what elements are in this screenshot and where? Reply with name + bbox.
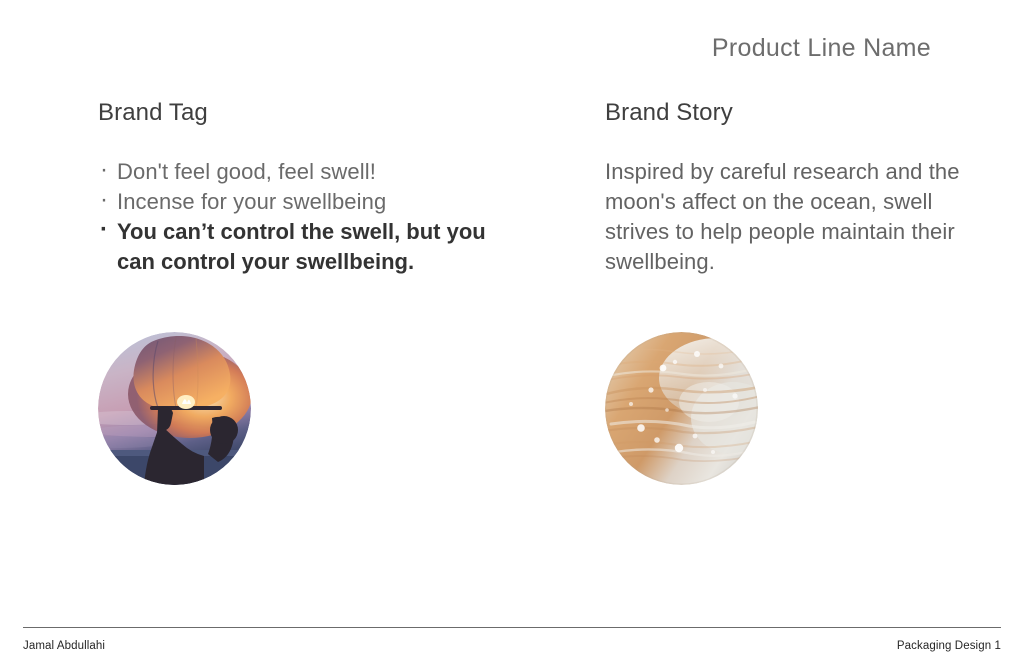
bullet-item-emphasis: You can’t control the swell, but you can… [98,217,518,277]
brand-tag-heading: Brand Tag [98,98,518,128]
brand-tag-bullet-list: Don't feel good, feel swell! Incense for… [98,157,518,277]
bullet-item: Incense for your swellbeing [98,187,518,217]
sea-foam-photo [605,332,758,485]
brand-tag-column: Brand Tag Don't feel good, feel swell! I… [98,98,518,277]
footer-project: Packaging Design 1 [0,638,1001,654]
sky-lantern-photo [98,332,251,485]
brand-story-paragraph: Inspired by careful research and the moo… [605,157,977,277]
slide-canvas: Product Line Name Brand Tag Don't feel g… [0,0,1024,663]
brand-story-heading: Brand Story [605,98,995,128]
footer-divider [23,627,1001,628]
product-line-name-title: Product Line Name [0,32,931,64]
bullet-item: Don't feel good, feel swell! [98,157,518,187]
brand-story-column: Brand Story Inspired by careful research… [605,98,995,277]
